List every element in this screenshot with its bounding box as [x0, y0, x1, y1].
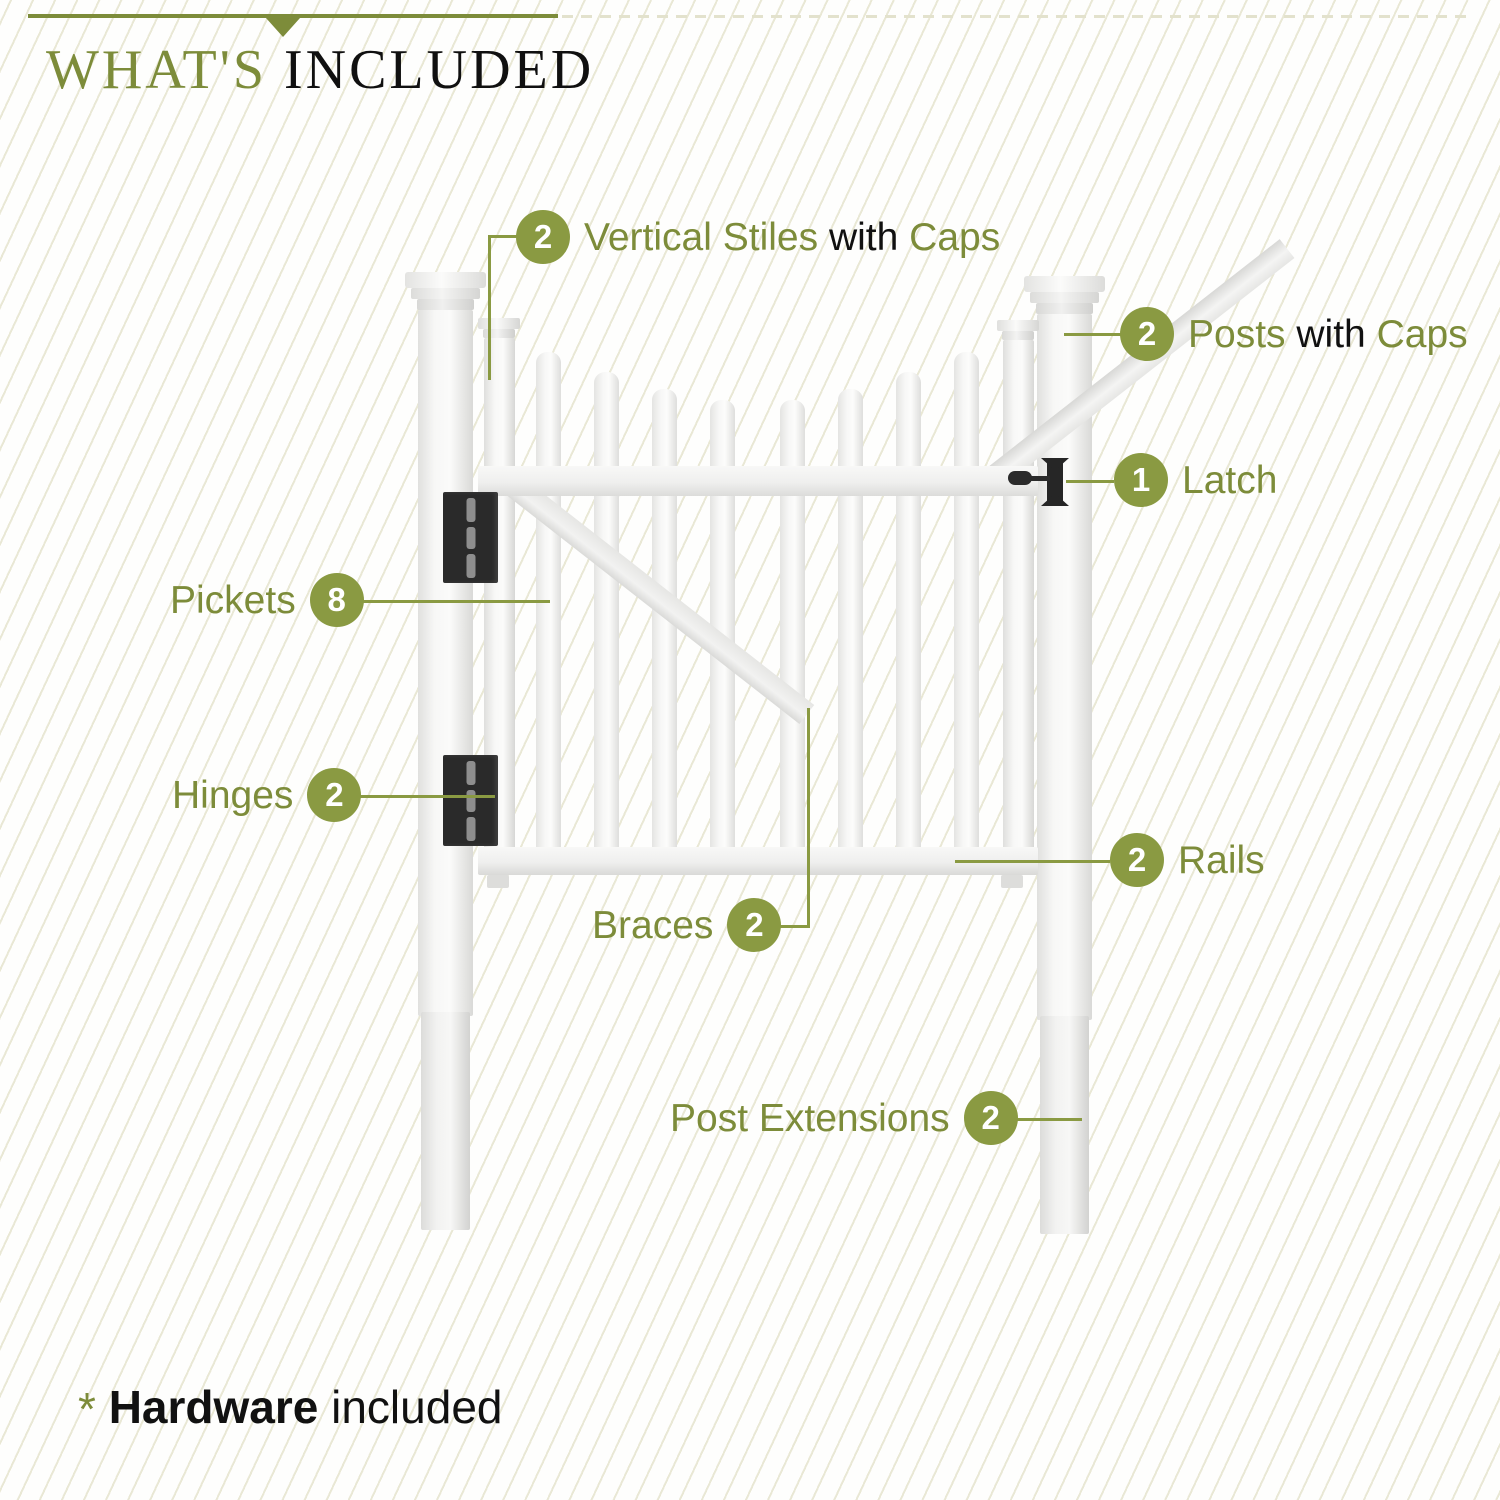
latch-handle-icon — [1008, 471, 1032, 485]
hinge-pin — [466, 527, 475, 549]
callout-label-pickets: Pickets — [170, 581, 296, 620]
whats-included-infographic: WHAT'S INCLUDED — [0, 0, 1500, 1500]
post-extension-right — [1040, 1016, 1089, 1234]
hinge-pin — [466, 761, 475, 785]
picket — [838, 389, 863, 862]
callout-vertical-stiles[interactable]: 2 Vertical Stiles with Caps — [516, 210, 1000, 264]
picket — [594, 372, 619, 862]
label-part-primary: Posts — [1188, 313, 1286, 356]
callout-label-vertical-stiles: Vertical Stiles with Caps — [584, 218, 1000, 257]
stile-cap-left — [478, 318, 520, 329]
callout-badge-vertical-stiles: 2 — [516, 210, 570, 264]
hinge-pin — [466, 554, 475, 578]
post-left — [418, 310, 473, 1016]
hinge-upper — [443, 492, 498, 583]
callout-badge-hinges: 2 — [307, 768, 361, 822]
callout-label-braces: Braces — [592, 906, 713, 945]
callout-label-post-extensions: Post Extensions — [670, 1099, 950, 1138]
picket — [536, 352, 561, 862]
picket — [896, 372, 921, 862]
label-part-secondary: Caps — [909, 216, 1000, 259]
leader-vertical-stiles-v — [488, 235, 491, 380]
hinge-pin — [466, 498, 475, 522]
callout-label-posts: Posts with Caps — [1188, 315, 1468, 354]
callout-rails[interactable]: 2 Rails — [1110, 833, 1265, 887]
callout-badge-latch: 1 — [1114, 453, 1168, 507]
leader-braces-v — [807, 708, 810, 926]
post-cap-right — [1024, 276, 1105, 292]
rail-bottom-tab-left — [487, 875, 509, 888]
rail-bottom-tab-right — [1001, 875, 1023, 888]
leader-rails — [955, 860, 1110, 863]
callout-braces[interactable]: Braces 2 — [592, 898, 781, 952]
callout-hinges[interactable]: Hinges 2 — [172, 768, 361, 822]
footnote-rest: included — [331, 1381, 502, 1433]
callout-badge-braces: 2 — [727, 898, 781, 952]
hinge-pin — [466, 790, 475, 812]
callout-badge-post-extensions: 2 — [964, 1091, 1018, 1145]
hardware-footnote: * Hardware included — [78, 1380, 502, 1436]
footnote-bold: Hardware — [109, 1381, 319, 1433]
leader-posts — [1064, 333, 1121, 336]
post-cap-right-base — [1036, 303, 1093, 314]
rail-top — [478, 466, 1038, 496]
leader-hinges — [355, 795, 495, 798]
callout-pickets[interactable]: Pickets 8 — [170, 573, 364, 627]
post-extension-left — [421, 1012, 470, 1230]
callout-latch[interactable]: 1 Latch — [1114, 453, 1277, 507]
hinge-lower — [443, 755, 498, 846]
rail-bottom — [478, 847, 1038, 875]
label-part-primary: Vertical Stiles — [584, 216, 818, 259]
post-cap-left-base — [417, 299, 474, 310]
hinge-pin — [466, 817, 475, 841]
post-cap-left — [405, 272, 486, 288]
label-part-connector: with — [1296, 313, 1365, 356]
post-cap-right-trim — [1030, 292, 1099, 303]
callout-badge-pickets: 8 — [310, 573, 364, 627]
leader-pickets — [352, 600, 550, 603]
callout-label-hinges: Hinges — [172, 776, 293, 815]
leader-post-extensions — [1014, 1118, 1082, 1121]
callout-post-extensions[interactable]: Post Extensions 2 — [670, 1091, 1018, 1145]
asterisk-icon: * — [78, 1383, 96, 1435]
picket — [954, 352, 979, 862]
callout-label-latch: Latch — [1182, 461, 1277, 500]
post-cap-left-trim — [411, 288, 480, 299]
stile-cap-right — [997, 320, 1039, 331]
leader-latch — [1066, 480, 1114, 483]
stile-right — [1003, 340, 1034, 874]
callout-label-rails: Rails — [1178, 841, 1265, 880]
stile-cap-right-trim — [1002, 331, 1034, 340]
callout-posts[interactable]: 2 Posts with Caps — [1120, 307, 1468, 361]
callout-badge-rails: 2 — [1110, 833, 1164, 887]
label-part-secondary: Caps — [1377, 313, 1468, 356]
label-part-connector: with — [829, 216, 898, 259]
callout-badge-posts: 2 — [1120, 307, 1174, 361]
